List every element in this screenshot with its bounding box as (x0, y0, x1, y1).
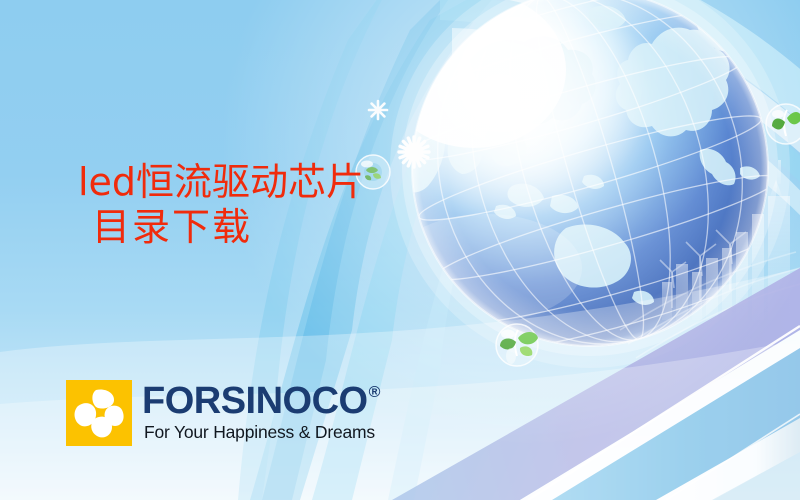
logo-tagline: For Your Happiness & Dreams (144, 422, 380, 443)
logo-text-block: FORSINOCO ® For Your Happiness & Dreams (142, 383, 380, 443)
logo-wordmark: FORSINOCO ® (142, 383, 380, 420)
headline-line-2: 目录下载 (78, 205, 364, 250)
product-banner: led恒流驱动芯片 目录下载 FORSINOCO (0, 0, 800, 500)
logo-wordmark-text: FORSINOCO (142, 383, 368, 420)
forsinoco-pinwheel-mark-icon (66, 380, 132, 446)
company-logo[interactable]: FORSINOCO ® For Your Happiness & Dreams (66, 380, 380, 446)
headline-line-1: led恒流驱动芯片 (78, 160, 364, 205)
registered-trademark-icon: ® (369, 385, 380, 401)
page-title: led恒流驱动芯片 目录下载 (78, 160, 364, 250)
